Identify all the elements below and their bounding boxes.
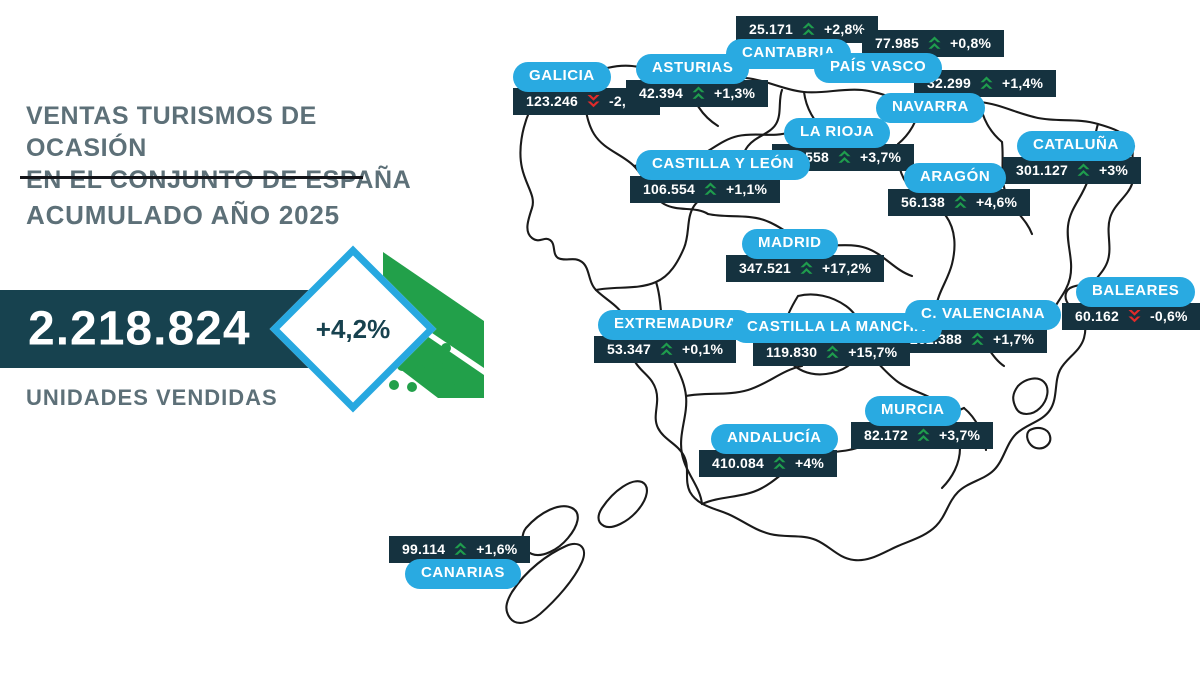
region-label-andalucia: ANDALUCÍA	[711, 424, 838, 454]
region-pct-cantabria: +2,8%	[824, 22, 865, 37]
double-chevron-up-icon	[802, 22, 815, 37]
double-chevron-up-icon	[971, 332, 984, 347]
region-badge-cataluna: 301.127 +3%	[1003, 157, 1141, 184]
page-title-line2: EN EL CONJUNTO DE ESPAÑA	[26, 164, 426, 196]
region-pct-madrid: +17,2%	[822, 261, 871, 276]
region-marker-baleares[interactable]: BALEARES 60.162 -0,6%	[1062, 277, 1200, 330]
region-pct-navarra: +1,4%	[1002, 76, 1043, 91]
region-badge-aragon: 56.138 +4,6%	[888, 189, 1030, 216]
region-pct-asturias: +1,3%	[714, 86, 755, 101]
region-value-andalucia: 410.084	[712, 456, 764, 471]
region-pct-andalucia: +4%	[795, 456, 824, 471]
region-value-asturias: 42.394	[639, 86, 683, 101]
double-chevron-down-icon	[587, 94, 600, 109]
double-chevron-down-icon	[1128, 309, 1141, 324]
region-marker-c-valenciana[interactable]: C. VALENCIANA 262.388 +1,7%	[897, 300, 1061, 353]
region-value-cataluna: 301.127	[1016, 163, 1068, 178]
region-marker-castilla-y-leon[interactable]: CASTILLA Y LEÓN 106.554 +1,1%	[630, 150, 810, 203]
region-label-pais-vasco: PAÍS VASCO	[814, 53, 942, 83]
region-badge-madrid: 347.521 +17,2%	[726, 255, 884, 282]
region-marker-extremadura[interactable]: EXTREMADURA 53.347 +0,1%	[594, 310, 753, 363]
title-divider	[20, 176, 363, 179]
double-chevron-up-icon	[800, 261, 813, 276]
double-chevron-up-icon	[917, 428, 930, 443]
total-change-logo: +4,2%	[288, 248, 488, 398]
region-badge-asturias: 42.394 +1,3%	[626, 80, 768, 107]
region-label-galicia: GALICIA	[513, 62, 611, 92]
region-value-cantabria: 25.171	[749, 22, 793, 37]
region-marker-andalucia[interactable]: ANDALUCÍA 410.084 +4%	[699, 424, 838, 477]
region-pct-canarias: +1,6%	[476, 542, 517, 557]
region-label-castilla-y-leon: CASTILLA Y LEÓN	[636, 150, 810, 180]
region-value-pais-vasco: 77.985	[875, 36, 919, 51]
region-pct-pais-vasco: +0,8%	[950, 36, 991, 51]
region-badge-andalucia: 410.084 +4%	[699, 450, 837, 477]
region-value-madrid: 347.521	[739, 261, 791, 276]
total-units-value: 2.218.824	[28, 302, 251, 357]
region-badge-castilla-y-leon: 106.554 +1,1%	[630, 176, 780, 203]
infographic-root: VENTAS TURISMOS DE OCASIÓN EN EL CONJUNT…	[0, 0, 1200, 675]
region-label-navarra: NAVARRA	[876, 93, 985, 123]
region-pct-extremadura: +0,1%	[682, 342, 723, 357]
region-pct-cataluna: +3%	[1099, 163, 1128, 178]
double-chevron-up-icon	[928, 36, 941, 51]
region-pct-c-valenciana: +1,7%	[993, 332, 1034, 347]
double-chevron-up-icon	[980, 76, 993, 91]
units-label: UNIDADES VENDIDAS	[26, 385, 278, 411]
region-badge-murcia: 82.172 +3,7%	[851, 422, 993, 449]
page-subtitle: ACUMULADO AÑO 2025	[26, 200, 446, 231]
region-label-murcia: MURCIA	[865, 396, 961, 426]
double-chevron-up-icon	[704, 182, 717, 197]
double-chevron-up-icon	[954, 195, 967, 210]
double-chevron-up-icon	[692, 86, 705, 101]
region-pct-castilla-la-mancha: +15,7%	[848, 345, 897, 360]
region-value-galicia: 123.246	[526, 94, 578, 109]
region-pct-castilla-y-leon: +1,1%	[726, 182, 767, 197]
page-title-line1: VENTAS TURISMOS DE OCASIÓN	[26, 102, 317, 162]
region-marker-cataluna[interactable]: CATALUÑA 301.127 +3%	[1003, 131, 1141, 184]
double-chevron-up-icon	[1077, 163, 1090, 178]
region-value-extremadura: 53.347	[607, 342, 651, 357]
double-chevron-up-icon	[660, 342, 673, 357]
region-value-castilla-y-leon: 106.554	[643, 182, 695, 197]
region-marker-madrid[interactable]: MADRID 347.521 +17,2%	[726, 229, 884, 282]
region-badge-baleares: 60.162 -0,6%	[1062, 303, 1200, 330]
region-pct-murcia: +3,7%	[939, 428, 980, 443]
region-badge-castilla-la-mancha: 119.830 +15,7%	[753, 339, 910, 366]
region-pct-baleares: -0,6%	[1150, 309, 1188, 324]
region-value-murcia: 82.172	[864, 428, 908, 443]
region-label-madrid: MADRID	[742, 229, 838, 259]
region-marker-canarias[interactable]: CANARIAS 99.114 +1,6%	[389, 536, 530, 589]
double-chevron-up-icon	[838, 150, 851, 165]
region-pct-aragon: +4,6%	[976, 195, 1017, 210]
region-label-la-rioja: LA RIOJA	[784, 118, 890, 148]
double-chevron-up-icon	[773, 456, 786, 471]
region-pct-la-rioja: +3,7%	[860, 150, 901, 165]
double-chevron-up-icon	[454, 542, 467, 557]
region-value-aragon: 56.138	[901, 195, 945, 210]
region-label-cataluna: CATALUÑA	[1017, 131, 1135, 161]
page-title: VENTAS TURISMOS DE OCASIÓN EN EL CONJUNT…	[26, 100, 426, 196]
region-value-castilla-la-mancha: 119.830	[766, 345, 817, 360]
region-label-canarias: CANARIAS	[405, 559, 521, 589]
double-chevron-up-icon	[826, 345, 839, 360]
region-value-canarias: 99.114	[402, 542, 445, 557]
region-badge-extremadura: 53.347 +0,1%	[594, 336, 736, 363]
region-label-aragon: ARAGÓN	[904, 163, 1006, 193]
region-label-extremadura: EXTREMADURA	[598, 310, 753, 340]
region-label-baleares: BALEARES	[1076, 277, 1195, 307]
region-label-c-valenciana: C. VALENCIANA	[905, 300, 1061, 330]
region-value-baleares: 60.162	[1075, 309, 1119, 324]
region-marker-murcia[interactable]: MURCIA 82.172 +3,7%	[851, 396, 993, 449]
